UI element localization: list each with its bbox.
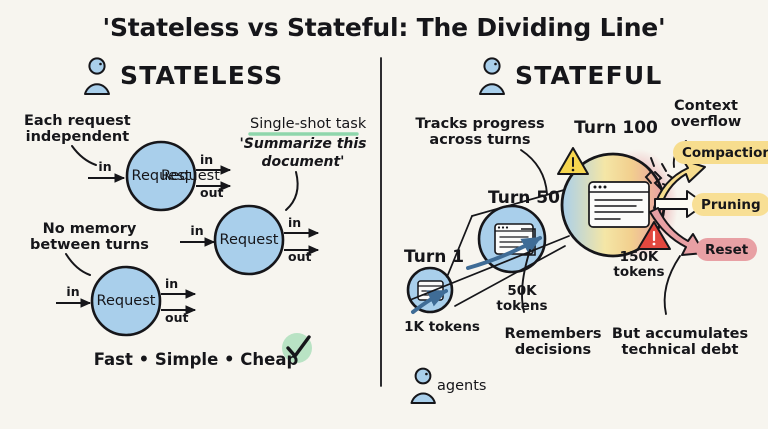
request-node-2-text: Request [220,232,279,248]
legend-person-icon [412,369,435,403]
legend-label-agents: agents [437,378,486,394]
pointer-no-memory [66,254,90,275]
pointer-each-request [72,146,96,165]
section-heading-stateless: STATELESS [120,62,283,90]
remedy-badge-reset[interactable]: Reset [696,238,757,261]
note-remembers-decisions: Remembers decisions [504,326,601,358]
request-node-2-inflow-label: in [190,224,203,238]
note-each-request-independent: Each request independent [24,113,131,145]
request-node-3-out-label: out [165,311,188,325]
diagram-canvas: 'Stateless vs Stateful: The Dividing Lin… [0,0,768,429]
request-node-2-out-label: out [288,250,311,264]
turn-50-label: Turn 50 [488,189,560,208]
request-node-3-text: Request [97,293,156,309]
single-shot-quote-line-2: document' [262,155,345,171]
turn-100-tokens: 150K tokens [613,250,664,280]
page-title: 'Stateless vs Stateful: The Dividing Lin… [103,14,666,42]
single-shot-quote-line-1: 'Summarize this [240,137,367,153]
request-node-2-in-label: in [288,216,301,230]
window-icon-turn-1 [418,281,443,300]
note-tracks-progress: Tracks progress across turns [415,116,544,148]
turn-1-tokens: 1K tokens [404,320,480,335]
note-context-overflow: Context overflow [671,98,742,130]
turn-100-label: Turn 100 [574,119,658,138]
turn-50-tokens: 50K tokens [496,284,547,314]
remedy-label-reset: Reset [705,242,748,258]
single-shot-task-heading: Single-shot task [250,116,366,132]
request-node-1-in-label: in [200,153,213,167]
section-heading-stateful: STATEFUL [515,62,663,90]
request-node-1-inflow-label: in [98,160,111,174]
warning-triangle-icon-yellow [558,148,588,174]
note-no-memory-between-turns: No memory between turns [30,221,149,253]
note-accumulates-technical-debt: But accumulates technical debt [612,326,748,358]
person-icon-stateless [85,58,109,94]
request-node-3-inflow-label: in [66,285,79,299]
remedy-badge-compaction[interactable]: Compaction [673,141,768,164]
pointer-single-shot [286,172,298,210]
remedy-badge-pruning[interactable]: Pruning [692,193,768,216]
remedy-label-pruning: Pruning [701,197,761,213]
window-icon-turn-100 [589,182,649,227]
stateless-summary-text: Fast • Simple • Cheap [94,351,299,369]
turn-1-label: Turn 1 [404,248,464,267]
request-node-3-in-label: in [165,277,178,291]
request-node-1-text: Request [132,168,191,184]
remedy-label-compaction: Compaction [682,145,768,161]
person-icon-stateful [480,58,504,94]
request-node-1-out-label: out [200,186,223,200]
